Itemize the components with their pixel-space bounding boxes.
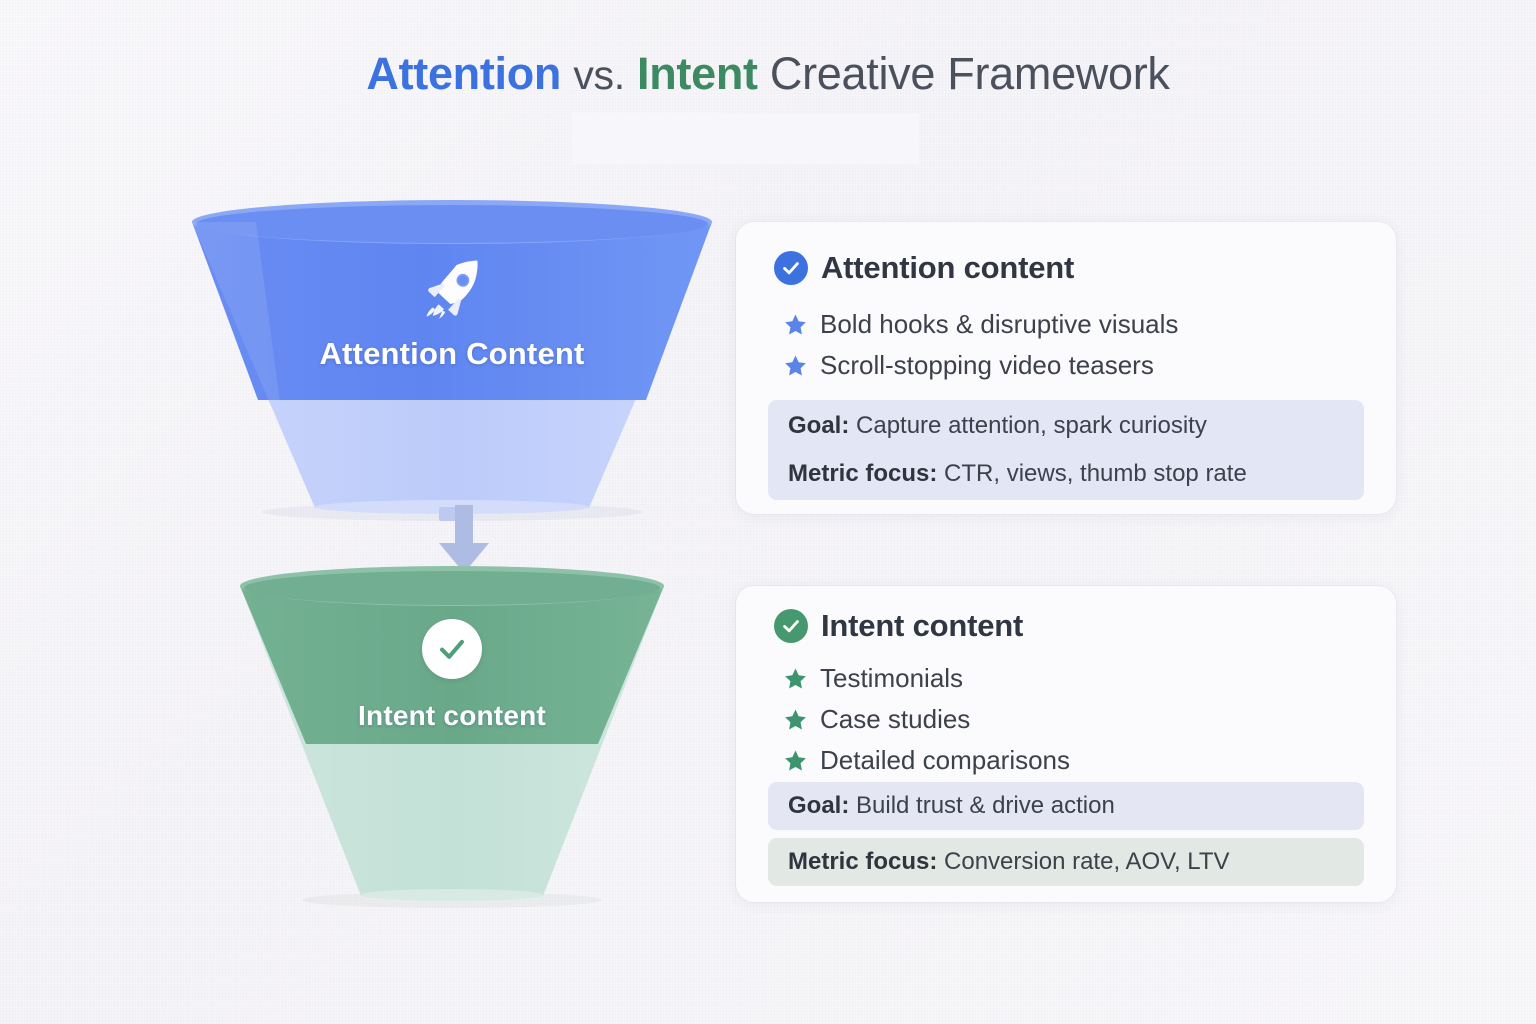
goal-label: Goal:: [788, 792, 849, 819]
card-attention-header: Attention content: [774, 250, 1074, 286]
attention-metric-row: Metric focus: CTR, views, thumb stop rat…: [788, 461, 1344, 487]
attention-meta-box: Goal: Capture attention, spark curiosity…: [768, 400, 1364, 500]
intent-goal-box: Goal: Build trust & drive action: [768, 782, 1364, 830]
card-intent-content: Intent content Testimonials Case studies…: [736, 586, 1396, 902]
page-title: Attention vs. Intent Creative Framework: [0, 48, 1536, 100]
check-circle-icon: [422, 619, 482, 679]
goal-value: Build trust & drive action: [856, 792, 1115, 819]
bullet-text: Testimonials: [820, 663, 963, 694]
metric-label: Metric focus:: [788, 460, 937, 487]
goal-value: Capture attention, spark curiosity: [856, 412, 1207, 439]
intent-metric-row: Metric focus: Conversion rate, AOV, LTV: [788, 849, 1344, 875]
star-icon: [784, 667, 807, 690]
funnel-attention: Attention Content: [176, 200, 728, 520]
check-circle-icon: [774, 251, 808, 285]
list-item: Scroll-stopping video teasers: [784, 345, 1178, 386]
bullet-text: Detailed comparisons: [820, 745, 1070, 776]
attention-goal-row: Goal: Capture attention, spark curiosity: [788, 413, 1344, 439]
star-icon: [784, 313, 807, 336]
metric-value: Conversion rate, AOV, LTV: [944, 848, 1229, 875]
intent-bullet-list: Testimonials Case studies Detailed compa…: [784, 658, 1070, 781]
intent-goal-row: Goal: Build trust & drive action: [788, 793, 1344, 819]
check-circle-icon: [774, 609, 808, 643]
bullet-text: Case studies: [820, 704, 970, 735]
card-intent-title: Intent content: [821, 608, 1023, 644]
star-icon: [784, 708, 807, 731]
attention-bullet-list: Bold hooks & disruptive visuals Scroll-s…: [784, 304, 1178, 386]
title-word-attention: Attention: [366, 48, 561, 99]
goal-label: Goal:: [788, 412, 849, 439]
star-icon: [784, 749, 807, 772]
list-item: Testimonials: [784, 658, 1070, 699]
intent-metric-box: Metric focus: Conversion rate, AOV, LTV: [768, 838, 1364, 886]
list-item: Case studies: [784, 699, 1070, 740]
subtitle-placeholder: [572, 113, 919, 164]
metric-value: CTR, views, thumb stop rate: [944, 460, 1247, 487]
metric-label: Metric focus:: [788, 848, 937, 875]
title-word-vs: vs.: [573, 52, 625, 98]
bullet-text: Scroll-stopping video teasers: [820, 350, 1154, 381]
card-attention-content: Attention content Bold hooks & disruptiv…: [736, 222, 1396, 514]
card-intent-header: Intent content: [774, 608, 1023, 644]
title-word-tail: Creative Framework: [770, 48, 1170, 99]
card-attention-title: Attention content: [821, 250, 1074, 286]
star-icon: [784, 354, 807, 377]
down-arrow-icon: [433, 505, 495, 575]
bullet-text: Bold hooks & disruptive visuals: [820, 309, 1178, 340]
list-item: Bold hooks & disruptive visuals: [784, 304, 1178, 345]
funnel-intent: Intent content: [232, 566, 672, 906]
list-item: Detailed comparisons: [784, 740, 1070, 781]
title-word-intent: Intent: [637, 48, 758, 99]
